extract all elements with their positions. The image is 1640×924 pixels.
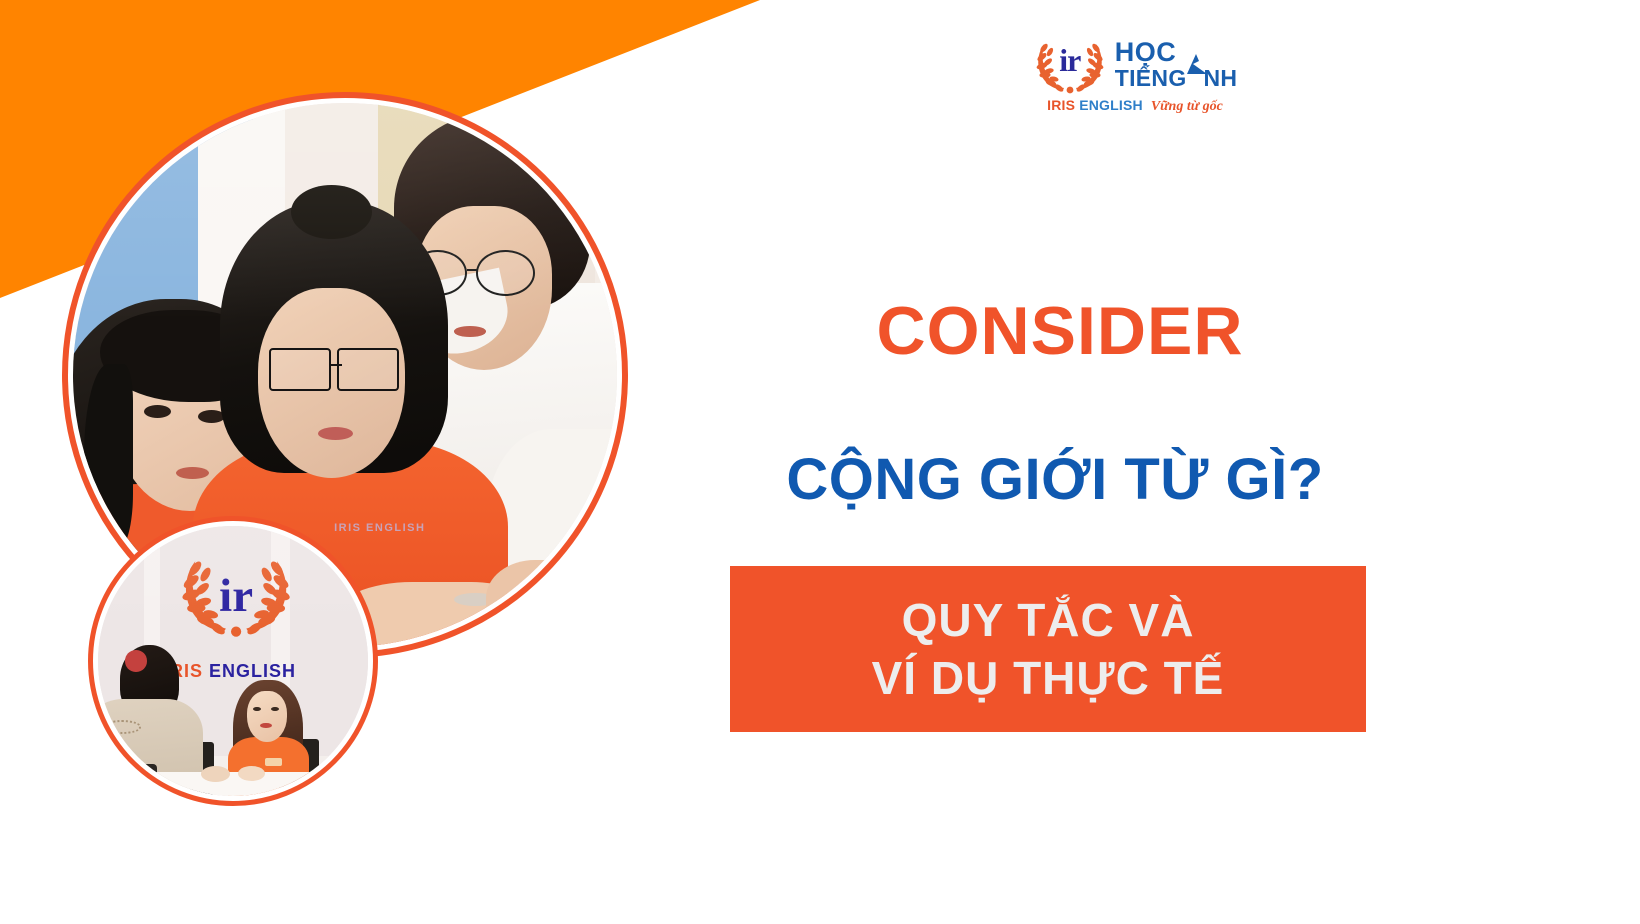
brand-title-line2-prefix: TIẾNG	[1115, 66, 1187, 90]
brand-mark-letters: ir	[1033, 33, 1107, 91]
brand-name-secondary: ENGLISH	[1079, 98, 1143, 112]
photo-person-b-glasses-left	[269, 348, 332, 392]
photo-person-a-hair-front	[84, 364, 133, 549]
photo-person-b-glasses-bridge	[331, 364, 342, 366]
photo-person-c-hand	[486, 560, 584, 636]
brand-title-line2: TIẾNG A NH	[1115, 66, 1238, 90]
brand-name-primary: IRIS	[1047, 98, 1075, 112]
photo-person-c-mouth	[454, 326, 487, 337]
consultant-face	[247, 691, 288, 742]
office-wall-laurel-icon: ir	[174, 548, 298, 640]
subheadline-question: CỘNG GIỚI TỪ GÌ?	[660, 448, 1450, 512]
brand-tagline: Vững từ gốc	[1151, 100, 1223, 114]
photo-wall-logo-tagline: ng từ gốc	[106, 152, 149, 164]
poster-canvas: ir HỌC TIẾNG A NH IRIS ENGLISH Vững từ	[0, 0, 1640, 924]
photo-person-b-mouth	[318, 427, 353, 440]
brand-title-line1: HỌC	[1115, 38, 1238, 66]
brand-logo: ir HỌC TIẾNG A NH IRIS ENGLISH Vững từ	[1030, 33, 1240, 121]
office-wall-brand-english: ENGLISH	[209, 661, 296, 681]
cta-banner[interactable]: QUY TẮC VÀ VÍ DỤ THỰC TẾ	[730, 566, 1366, 732]
photo-person-b-glasses-right	[337, 348, 400, 392]
photo-person-c-glasses-right	[476, 250, 536, 296]
photo-wall-logo-text: ANH	[106, 114, 142, 131]
consultant-name-badge	[265, 758, 281, 766]
cta-line-1: QUY TẮC VÀ	[902, 593, 1195, 647]
laurel-wreath-icon: ir	[1033, 33, 1107, 95]
brand-logo-top: ir HỌC TIẾNG A NH	[1033, 33, 1238, 95]
headline-consider: CONSIDER	[700, 296, 1420, 367]
brand-wordmark: HỌC TIẾNG A NH	[1115, 37, 1238, 90]
secondary-photo-circle: ir RIS ENGLISH	[88, 516, 378, 806]
svg-text:ir: ir	[219, 570, 253, 622]
anh-checkmark-icon: A	[1187, 66, 1204, 90]
cta-line-2: VÍ DỤ THỰC TẾ	[872, 651, 1225, 705]
photo-person-b-bun	[291, 185, 373, 239]
photo-person-c-glasses-bridge	[467, 269, 478, 271]
brand-logo-bottom: IRIS ENGLISH Vững từ gốc	[1047, 98, 1223, 114]
photo-person-a-eye-left	[144, 405, 171, 418]
secondary-photo-image: ir RIS ENGLISH	[98, 526, 368, 796]
customer-coat-logo	[103, 720, 141, 734]
customer-hair-tie	[125, 650, 147, 672]
